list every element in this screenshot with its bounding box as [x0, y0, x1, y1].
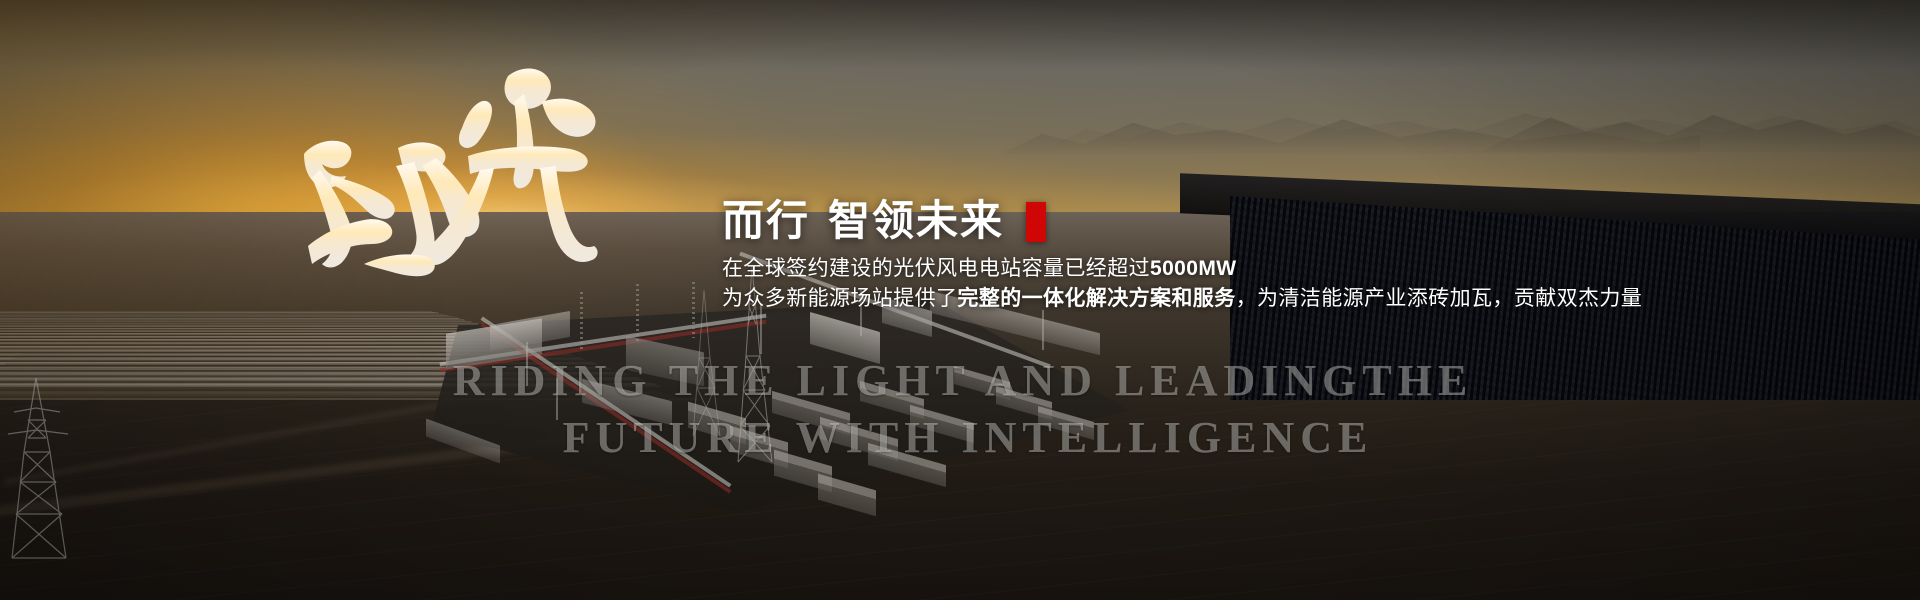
subtitle-line-2-suffix: ，为清洁能源产业添砖加瓦，贡献双杰力量	[1236, 287, 1643, 310]
solar-panel-row	[0, 326, 487, 327]
battery-storage-substation	[430, 282, 1130, 512]
solar-panel-row	[0, 323, 480, 324]
subtitle-line-2-prefix: 为众多新能源场站提供了	[722, 287, 957, 310]
light-mast	[556, 378, 558, 420]
light-mast	[580, 292, 583, 352]
red-accent-bar	[1026, 202, 1046, 242]
page-title: 而行 智领未来	[722, 198, 1642, 243]
solar-panel-row	[0, 328, 495, 329]
hero-text-block: 而行 智领未来 在全球签约建设的光伏风电电站容量已经超过5000MW 为众多新能…	[722, 198, 1642, 314]
capacity-value: 5000MW	[1150, 257, 1236, 280]
lattice-pylon-icon	[692, 288, 722, 443]
headline-part-2: 智领未来	[828, 198, 1004, 243]
solar-panel-row-near	[13, 357, 468, 359]
subtitle-line-2-highlight: 完整的一体化解决方案和服务	[957, 287, 1235, 310]
solar-panel-row-near	[9, 360, 487, 362]
subtitle-line-1: 在全球签约建设的光伏风电电站容量已经超过5000MW	[722, 254, 1642, 284]
subtitle-line-2: 为众多新能源场站提供了完整的一体化解决方案和服务，为清洁能源产业添砖加瓦，贡献双…	[722, 284, 1642, 314]
solar-panel-row-near	[17, 355, 451, 356]
light-mast	[636, 284, 639, 342]
light-mast	[526, 342, 528, 386]
hero-banner: 而行 智领未来 在全球签约建设的光伏风电电站容量已经超过5000MW 为众多新能…	[0, 0, 1920, 600]
solar-panel-row	[0, 321, 473, 322]
subtitle-group: 在全球签约建设的光伏风电电站容量已经超过5000MW 为众多新能源场站提供了完整…	[722, 254, 1642, 314]
headline-part-1: 而行	[722, 198, 810, 243]
solar-panel-row	[0, 330, 503, 332]
light-mast	[1042, 310, 1044, 350]
subtitle-line-1-text: 在全球签约建设的光伏风电电站容量已经超过	[722, 257, 1150, 280]
transmission-tower-icon	[6, 372, 98, 562]
